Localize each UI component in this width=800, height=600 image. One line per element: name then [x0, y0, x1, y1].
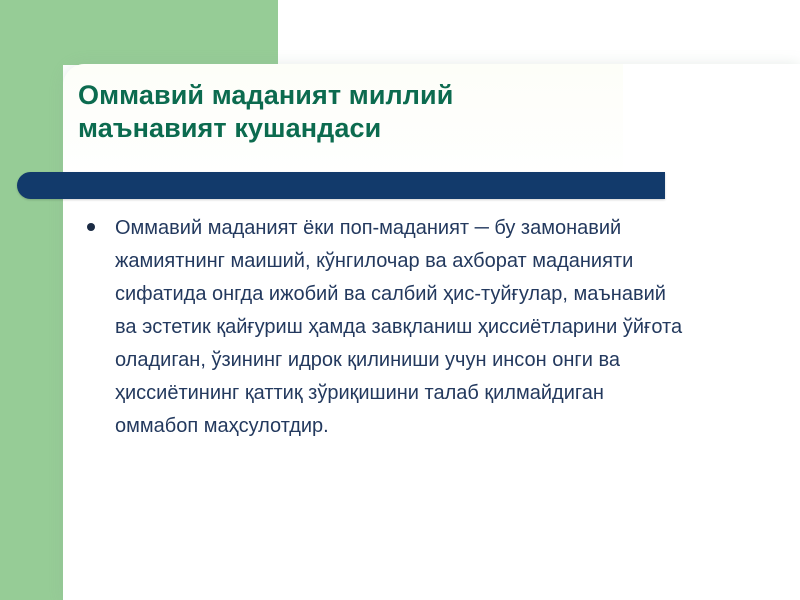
green-left-rail [0, 0, 63, 600]
bullet-list-item: Оммавий маданият ёки поп-маданият ─ бу з… [85, 212, 685, 443]
green-top-block [0, 0, 278, 65]
bullet-dot-icon [87, 223, 95, 231]
slide-canvas: Оммавий маданият миллий маънавият кушанд… [0, 0, 800, 600]
slide-title-line-1: Оммавий маданият миллий [78, 79, 678, 112]
slide-title: Оммавий маданият миллий маънавият кушанд… [78, 79, 678, 145]
title-divider-bar [17, 172, 665, 199]
bullet-text: Оммавий маданият ёки поп-маданият ─ бу з… [115, 217, 682, 437]
slide-body: Оммавий маданият ёки поп-маданият ─ бу з… [85, 212, 685, 443]
slide-title-line-2: маънавият кушандаси [78, 112, 678, 145]
